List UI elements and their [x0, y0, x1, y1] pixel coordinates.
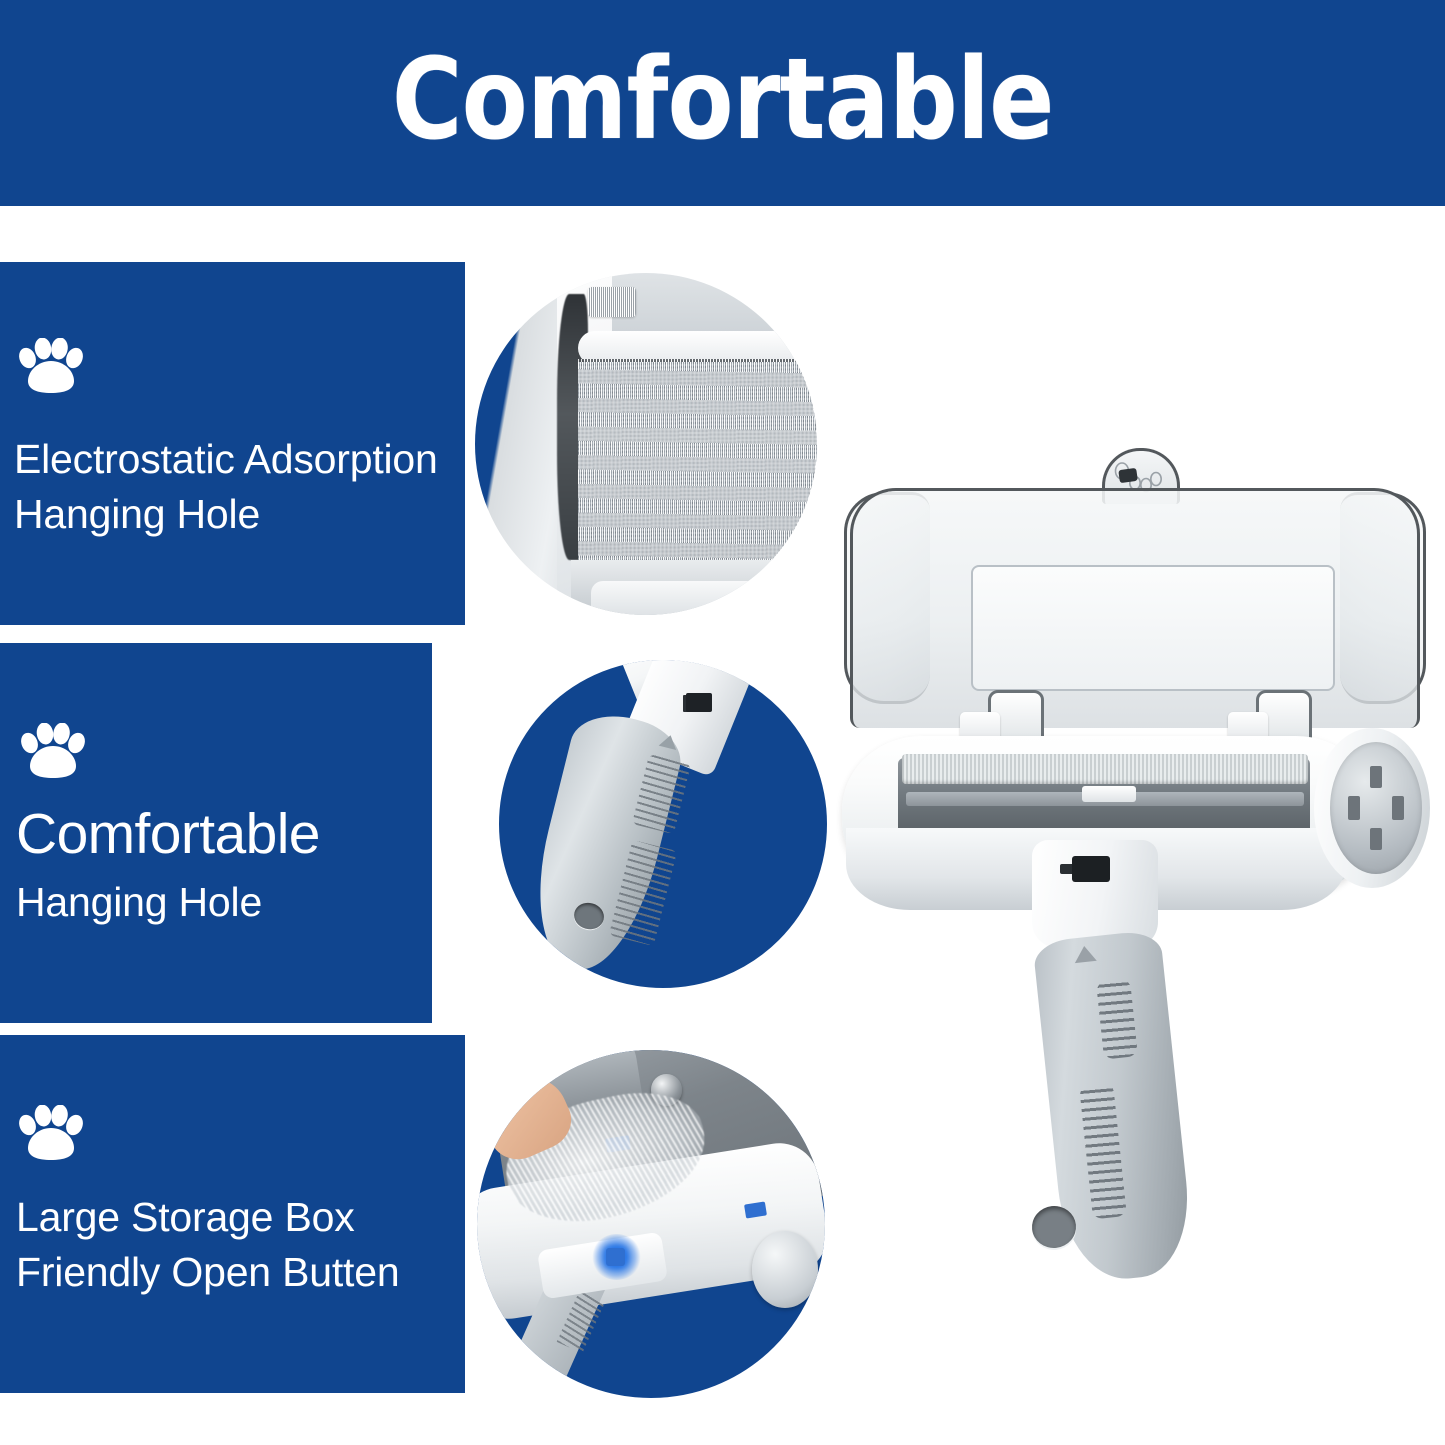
- grip-triangle-marker: [1073, 945, 1097, 963]
- bristle-field: [578, 362, 824, 560]
- header-banner: Comfortable: [0, 0, 1445, 206]
- infographic-page: Comfortable Electrostatic Adsorption Han…: [0, 0, 1445, 1445]
- feature-2-line-2: Hanging Hole: [16, 875, 262, 930]
- end-cap-slot-top: [1370, 766, 1382, 788]
- feature-1-line-2: Hanging Hole: [14, 487, 260, 542]
- bristle-closeup-image: [475, 273, 817, 615]
- page-title: Comfortable: [392, 44, 1054, 156]
- feature-block-1: Electrostatic Adsorption Hanging Hole: [0, 262, 465, 625]
- feature-2-line-1: Comfortable: [16, 803, 320, 867]
- end-cap: [1330, 742, 1422, 874]
- end-cap-slot-right: [1392, 796, 1404, 820]
- feature-block-2: Comfortable Hanging Hole: [0, 643, 432, 1023]
- product-image: [836, 440, 1436, 1300]
- handle-closeup-image: [499, 660, 827, 988]
- end-cap-slot-bottom: [1370, 828, 1382, 850]
- roller-fabric-strip: [902, 754, 1308, 784]
- storage-box-closeup-image: [477, 1050, 825, 1398]
- transparent-lid: [850, 488, 1420, 728]
- paw-icon: [20, 723, 86, 781]
- roller-center-nub: [1082, 786, 1136, 802]
- feature-1-photo-inset: [468, 266, 824, 622]
- roller-end-cap: [752, 1231, 818, 1308]
- open-button: [606, 1248, 625, 1265]
- feature-3-line-1: Large Storage Box: [16, 1190, 355, 1245]
- release-latch: [686, 693, 712, 713]
- release-latch: [1072, 856, 1110, 882]
- bristle-tuft: [588, 287, 636, 318]
- feature-2-photo-inset: [492, 653, 834, 995]
- paw-icon: [18, 338, 84, 396]
- feature-block-3: Large Storage Box Friendly Open Butten: [0, 1035, 465, 1393]
- paw-icon: [18, 1105, 84, 1163]
- end-cap-slot-left: [1348, 796, 1360, 820]
- feature-3-photo-inset: [470, 1043, 832, 1405]
- handle-grip: [517, 706, 687, 981]
- feature-3-line-2: Friendly Open Butten: [16, 1245, 399, 1300]
- lid-inner-panel: [971, 565, 1335, 691]
- feature-1-line-1: Electrostatic Adsorption: [14, 432, 438, 487]
- roller-lower-bar-highlight: [591, 581, 817, 615]
